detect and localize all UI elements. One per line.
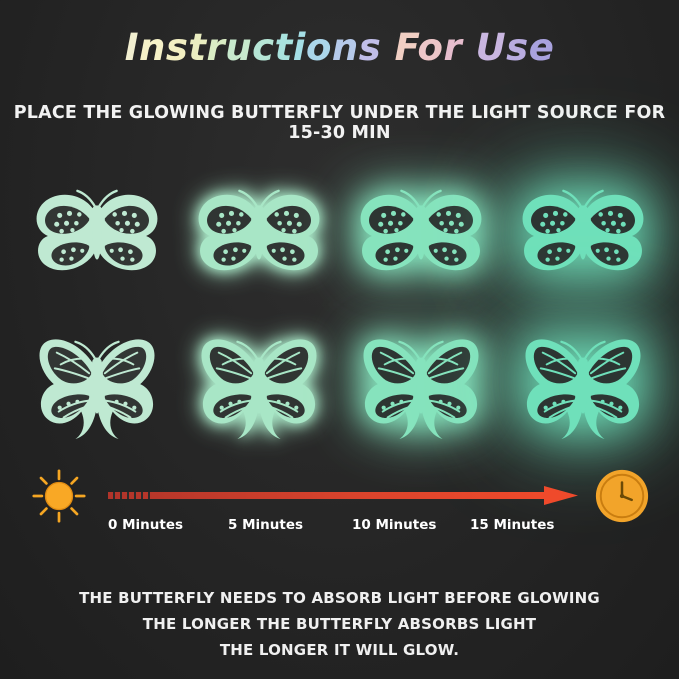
timeline: 0 Minutes5 Minutes10 Minutes15 Minutes bbox=[0, 465, 679, 535]
butterfly-swallowtail-stage-3 bbox=[351, 328, 491, 448]
butterfly-row-2 bbox=[0, 328, 679, 448]
butterfly-swallowtail-stage-1 bbox=[27, 328, 167, 448]
page-title: Instructions For Use bbox=[0, 26, 679, 69]
title-char-1: n bbox=[139, 26, 166, 69]
footer-line-1: THE BUTTERFLY NEEDS TO ABSORB LIGHT BEFO… bbox=[0, 585, 679, 611]
footer-text: THE BUTTERFLY NEEDS TO ABSORB LIGHT BEFO… bbox=[0, 585, 679, 663]
title-char-7: t bbox=[275, 26, 293, 69]
title-char-18: s bbox=[506, 26, 529, 69]
subtitle-text: PLACE THE GLOWING BUTTERFLY UNDER THE LI… bbox=[0, 103, 679, 143]
timeline-tick-2: 10 Minutes bbox=[352, 517, 436, 533]
title-char-5: u bbox=[225, 26, 252, 69]
footer-line-3: THE LONGER IT WILL GLOW. bbox=[0, 637, 679, 663]
title-char-10: n bbox=[332, 26, 359, 69]
clock-icon bbox=[593, 467, 651, 525]
butterfly-swallowtail-stage-4 bbox=[513, 328, 653, 448]
sun-icon bbox=[32, 469, 86, 523]
title-char-15: r bbox=[443, 26, 462, 69]
title-char-12 bbox=[381, 26, 394, 69]
timeline-tick-3: 15 Minutes bbox=[470, 517, 554, 533]
title-char-11: s bbox=[359, 26, 382, 69]
title-char-3: t bbox=[188, 26, 206, 69]
butterfly-monarch-stage-3 bbox=[351, 178, 491, 298]
butterfly-swallowtail-stage-2 bbox=[189, 328, 329, 448]
butterfly-monarch-stage-2 bbox=[189, 178, 329, 298]
title-char-14: o bbox=[418, 26, 444, 69]
title-char-0: I bbox=[125, 26, 139, 69]
title-char-2: s bbox=[166, 26, 189, 69]
butterfly-monarch-stage-4 bbox=[513, 178, 653, 298]
timeline-tick-1: 5 Minutes bbox=[228, 517, 303, 533]
page-root: Instructions For Use PLACE THE GLOWING B… bbox=[0, 0, 679, 679]
title-char-19: e bbox=[529, 26, 555, 69]
butterfly-row-1 bbox=[0, 178, 679, 298]
title-char-17: U bbox=[476, 26, 507, 69]
title-char-6: c bbox=[252, 26, 274, 69]
title-char-4: r bbox=[207, 26, 226, 69]
footer-line-2: THE LONGER THE BUTTERFLY ABSORBS LIGHT bbox=[0, 611, 679, 637]
title-char-16 bbox=[462, 26, 475, 69]
title-char-13: F bbox=[395, 26, 418, 69]
title-char-9: o bbox=[306, 26, 332, 69]
title-char-8: i bbox=[293, 26, 306, 69]
butterfly-monarch-stage-1 bbox=[27, 178, 167, 298]
timeline-tick-0: 0 Minutes bbox=[108, 517, 183, 533]
right-arrow-icon bbox=[108, 483, 578, 509]
